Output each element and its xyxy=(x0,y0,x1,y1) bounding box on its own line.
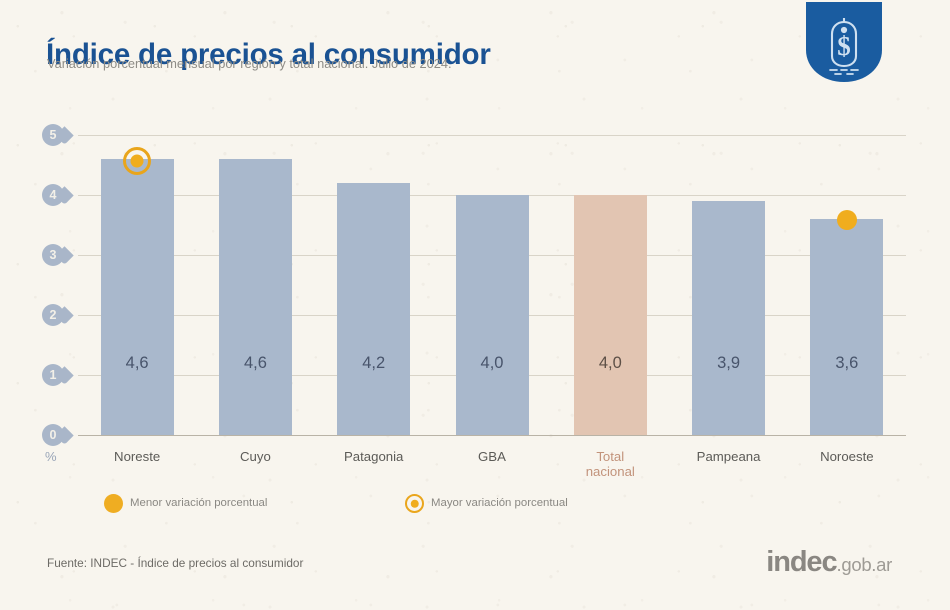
y-tick-label: 1 xyxy=(42,364,64,386)
x-axis-label-total-nacional: Totalnacional xyxy=(551,449,669,479)
bar-value-label: 4,6 xyxy=(101,354,174,373)
x-axis-label-pampeana: Pampeana xyxy=(669,449,787,464)
x-axis-label-patagonia: Patagonia xyxy=(315,449,433,464)
logo-wordmark: indec xyxy=(766,546,836,578)
y-axis-tick-2: 2 xyxy=(42,304,76,326)
legend-label: Mayor variación porcentual xyxy=(431,497,568,509)
bar-value-label: 4,6 xyxy=(219,354,292,373)
y-tick-label: 4 xyxy=(42,184,64,206)
logo-domain-suffix: .gob.ar xyxy=(837,554,893,575)
bar-rect xyxy=(337,183,410,435)
y-tick-label: 5 xyxy=(42,124,64,146)
svg-text:$: $ xyxy=(837,31,851,61)
bar-pampeana[interactable]: 3,9 xyxy=(692,135,765,435)
legend-swatch-solid-dot-icon xyxy=(104,494,123,513)
x-axis-label-cuyo: Cuyo xyxy=(196,449,314,464)
bar-value-label: 4,0 xyxy=(574,354,647,373)
source-note: Fuente: INDEC - Índice de precios al con… xyxy=(47,556,303,570)
indec-logo: indec.gob.ar xyxy=(766,546,892,579)
bar-rect xyxy=(101,159,174,435)
bar-rect xyxy=(456,195,529,435)
y-tick-label: 2 xyxy=(42,304,64,326)
y-tick-label: 3 xyxy=(42,244,64,266)
bar-value-label: 3,6 xyxy=(810,354,883,373)
mayor-variation-marker-icon xyxy=(123,147,151,175)
bar-rect xyxy=(574,195,647,435)
y-axis-tick-4: 4 xyxy=(42,184,76,206)
y-axis-tick-1: 1 xyxy=(42,364,76,386)
bar-gba[interactable]: 4,0 xyxy=(456,135,529,435)
bar-patagonia[interactable]: 4,2 xyxy=(337,135,410,435)
infographic-page: Índice de precios al consumidor Variació… xyxy=(0,0,950,610)
y-axis-tick-5: 5 xyxy=(42,124,76,146)
x-axis-label-noreste: Noreste xyxy=(78,449,196,464)
y-tick-label: 0 xyxy=(42,424,64,446)
bar-rect xyxy=(692,201,765,435)
bar-rect xyxy=(219,159,292,435)
bar-rect xyxy=(810,219,883,435)
bar-total-nacional[interactable]: 4,0 xyxy=(574,135,647,435)
gridline-0 xyxy=(78,435,906,436)
y-axis-tick-0: 0 xyxy=(42,424,76,446)
legend-swatch-ring-dot-icon xyxy=(405,494,424,513)
bar-noroeste[interactable]: 3,6 xyxy=(810,135,883,435)
bar-value-label: 4,0 xyxy=(456,354,529,373)
price-tag-dollar-shield-icon: $ xyxy=(806,2,882,82)
y-axis-tick-3: 3 xyxy=(42,244,76,266)
x-axis-label-noroeste: Noroeste xyxy=(788,449,906,464)
page-subtitle: Variación porcentual mensual por región … xyxy=(47,56,452,71)
bar-value-label: 3,9 xyxy=(692,354,765,373)
bar-chart-plot-area: 012345%4,6Noreste4,6Cuyo4,2Patagonia4,0G… xyxy=(78,135,906,435)
bar-value-label: 4,2 xyxy=(337,354,410,373)
bar-cuyo[interactable]: 4,6 xyxy=(219,135,292,435)
bar-noreste[interactable]: 4,6 xyxy=(101,135,174,435)
menor-variation-marker-icon xyxy=(837,210,857,230)
legend-label: Menor variación porcentual xyxy=(130,497,267,509)
y-axis-unit-label: % xyxy=(45,449,57,464)
x-axis-label-gba: GBA xyxy=(433,449,551,464)
